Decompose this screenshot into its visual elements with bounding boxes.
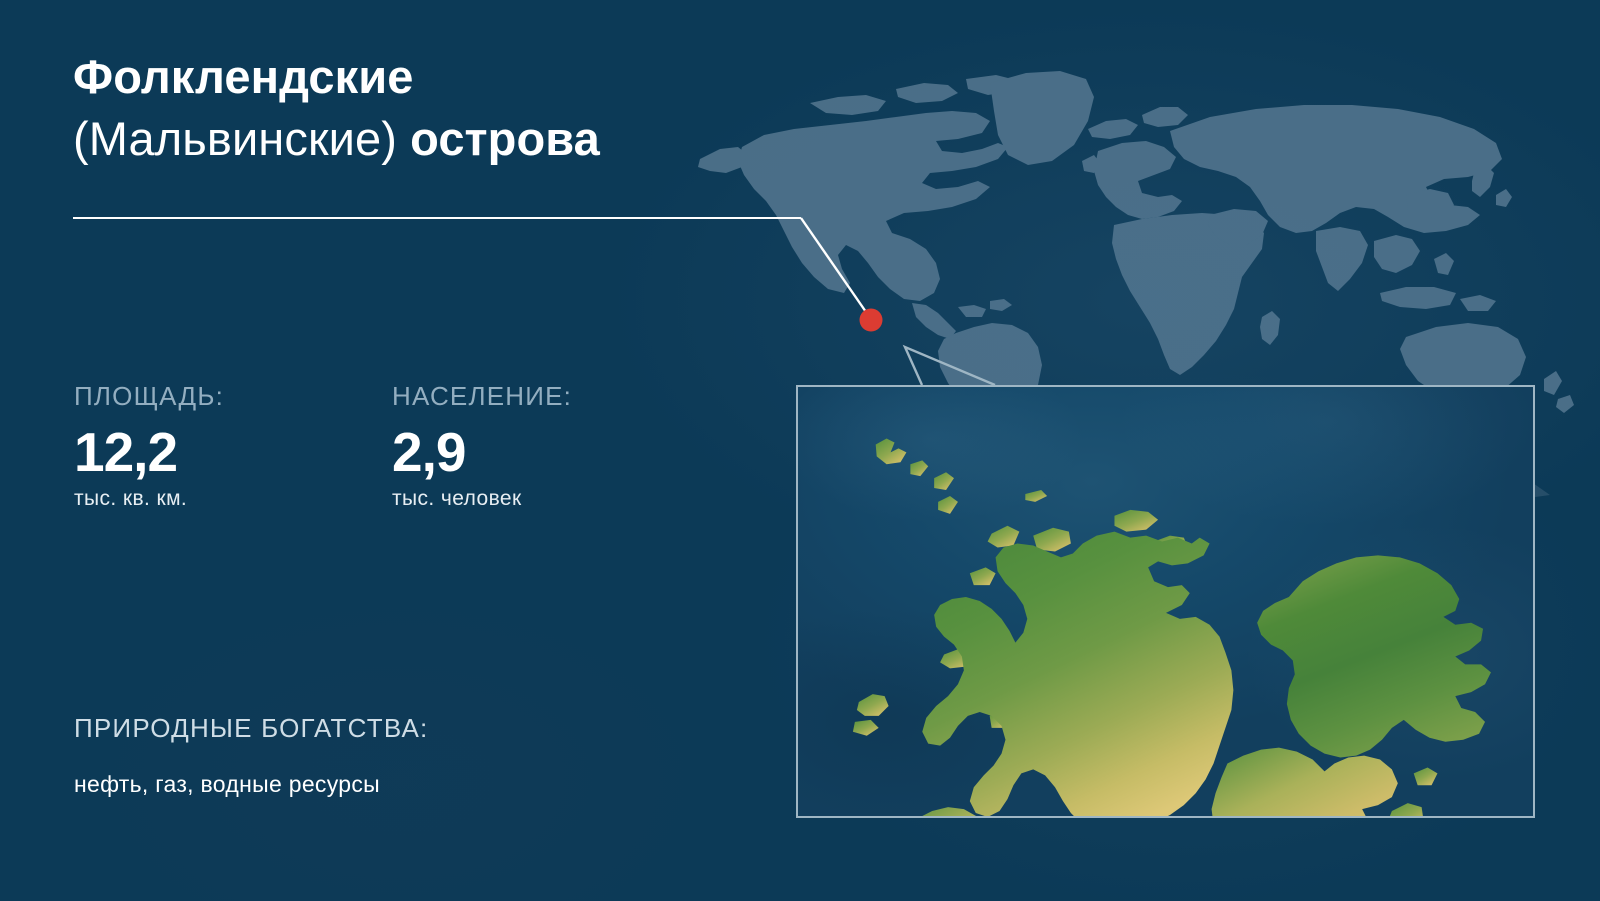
- stat-population-unit: тыс. человек: [392, 486, 710, 512]
- page-title: Фолклендские (Мальвинские) острова: [73, 46, 833, 170]
- stat-area-unit: тыс. кв. км.: [74, 486, 392, 512]
- stat-population-label: НАСЕЛЕНИЕ:: [392, 380, 710, 412]
- infographic-canvas: Фолклендские (Мальвинские) острова ПЛОЩА…: [0, 0, 1600, 901]
- natural-resources-value: нефть, газ, водные ресурсы: [74, 770, 714, 798]
- title-noun: острова: [410, 112, 600, 165]
- natural-resources: ПРИРОДНЫЕ БОГАТСТВА: нефть, газ, водные …: [74, 712, 714, 798]
- title-primary: Фолклендские: [73, 50, 413, 103]
- stat-area: ПЛОЩАДЬ: 12,2 тыс. кв. км.: [74, 380, 392, 512]
- stats-row: ПЛОЩАДЬ: 12,2 тыс. кв. км. НАСЕЛЕНИЕ: 2,…: [74, 380, 710, 512]
- stat-population: НАСЕЛЕНИЕ: 2,9 тыс. человек: [392, 380, 710, 512]
- stat-population-value: 2,9: [392, 424, 710, 480]
- falkland-islands-detail-map: [796, 385, 1535, 818]
- stat-area-value: 12,2: [74, 424, 392, 480]
- title-alt-name: (Мальвинские): [73, 112, 410, 165]
- title-underline-rule: [73, 217, 801, 219]
- title-line-2: (Мальвинские) острова: [73, 108, 833, 170]
- stat-area-label: ПЛОЩАДЬ:: [74, 380, 392, 412]
- title-line-1: Фолклендские: [73, 46, 833, 108]
- natural-resources-label: ПРИРОДНЫЕ БОГАТСТВА:: [74, 712, 714, 744]
- location-marker-falkland-islands: [860, 309, 883, 332]
